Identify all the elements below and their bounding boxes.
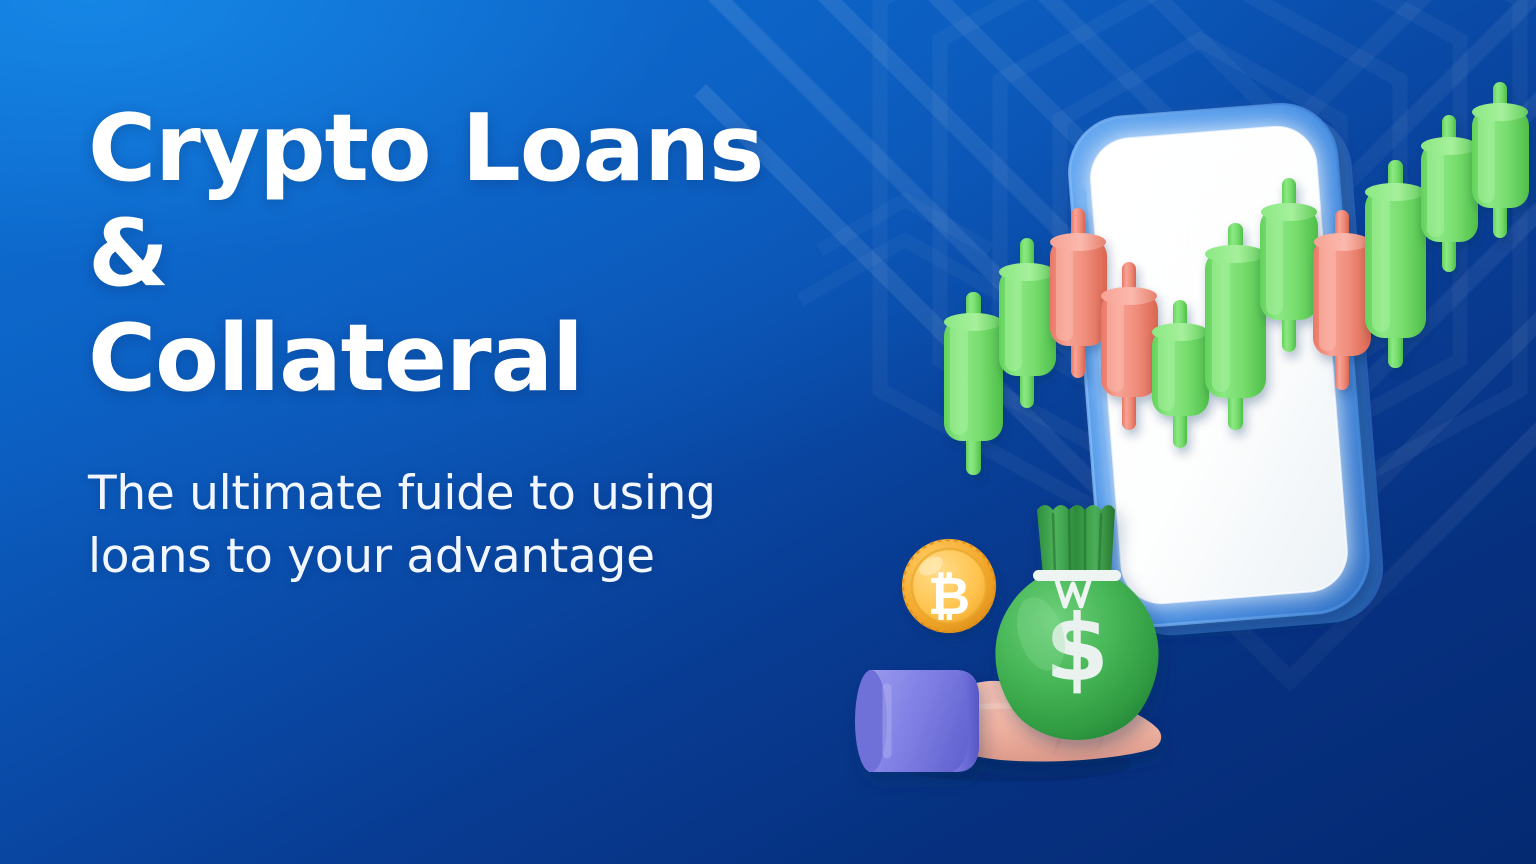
candlestick-11-up xyxy=(1472,82,1529,238)
page-subtitle: The ultimate fuide to using loans to you… xyxy=(88,463,818,588)
hero-banner: Crypto Loans & Collateral The ultimate f… xyxy=(0,0,1536,864)
candlestick-1-up xyxy=(944,292,1003,475)
candlestick-2-up xyxy=(999,238,1056,408)
crypto-trading-illustration: $ ₿ xyxy=(855,60,1536,820)
candlestick-9-up xyxy=(1365,160,1426,368)
bitcoin-coin: ₿ xyxy=(902,539,996,633)
shirt-sleeve xyxy=(855,670,979,772)
hero-copy: Crypto Loans & Collateral The ultimate f… xyxy=(88,96,868,588)
candlestick-10-up xyxy=(1421,115,1478,272)
svg-text:₿: ₿ xyxy=(928,567,970,627)
page-title: Crypto Loans & Collateral xyxy=(88,96,868,411)
